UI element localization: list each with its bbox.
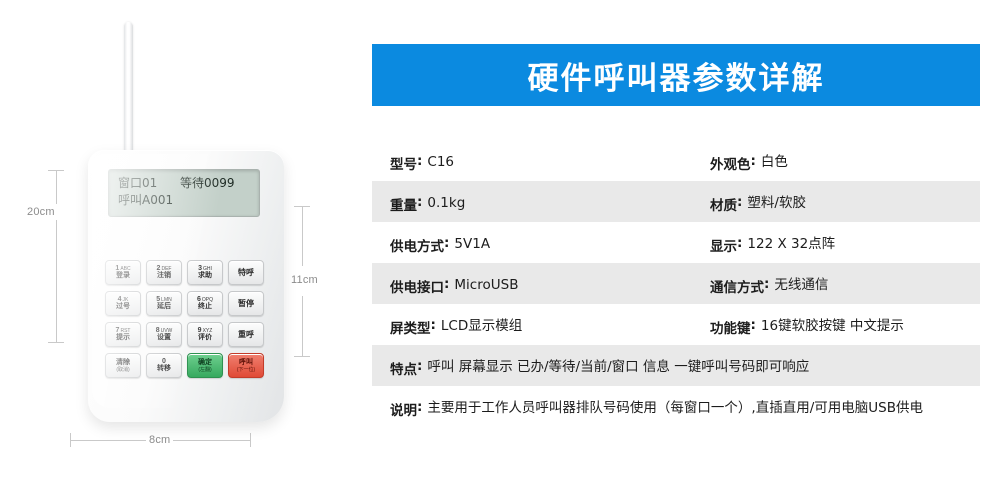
lcd-calling-label: 呼叫A001 bbox=[118, 192, 173, 209]
spec-value: 呼叫 屏幕显示 已办/等待/当前/窗口 信息 一键呼叫号码即可响应 bbox=[427, 345, 809, 377]
height-dimension-label: 20cm bbox=[24, 204, 58, 220]
key-sub-label: (下一位) bbox=[237, 367, 255, 373]
spec-value: 16键软胶按键 中文提示 bbox=[761, 304, 904, 336]
spec-cell: 材质:塑料/软胶 bbox=[710, 181, 962, 222]
width-dimension-tick-left bbox=[70, 433, 71, 447]
spec-key-label: 重量 bbox=[390, 181, 417, 214]
spec-cell: 功能键:16键软胶按键 中文提示 bbox=[710, 304, 962, 345]
height-dimension-line-lower bbox=[56, 222, 57, 342]
spec-value: LCD显示模组 bbox=[441, 304, 522, 336]
key-button[interactable]: 特呼 bbox=[228, 260, 264, 285]
key-main-label: 延后 bbox=[157, 303, 171, 311]
key-button[interactable]: 重呼 bbox=[228, 322, 264, 347]
key-2-button[interactable]: 2DEF注销 bbox=[146, 260, 182, 285]
key-main-label: 转移 bbox=[157, 365, 171, 373]
spec-separator: : bbox=[417, 181, 427, 210]
spec-value: MicroUSB bbox=[454, 263, 518, 295]
spec-key-label: 显示 bbox=[710, 222, 737, 255]
key-sub-label: (取消) bbox=[116, 367, 129, 373]
spec-separator: : bbox=[417, 140, 427, 169]
spec-value: 无线通信 bbox=[774, 263, 828, 295]
spec-key-label: 外观色 bbox=[710, 140, 751, 173]
key-1-button[interactable]: 1ABC登录 bbox=[105, 260, 141, 285]
spec-separator: : bbox=[431, 304, 441, 333]
spec-row: 说明:主要用于工作人员呼叫器排队号码使用（每窗口一个）,直插直用/可用电脑USB… bbox=[372, 386, 980, 444]
key-main-label: 过号 bbox=[116, 303, 130, 311]
key-3-button[interactable]: 3GHI求助 bbox=[187, 260, 223, 285]
depth-dimension-label: 11cm bbox=[288, 272, 321, 288]
spec-key-label: 材质 bbox=[710, 181, 737, 214]
spec-value: 0.1kg bbox=[427, 181, 465, 213]
key-main-label: 确定 bbox=[198, 359, 212, 367]
spec-separator: : bbox=[444, 263, 454, 292]
lcd-waiting-label: 等待0099 bbox=[180, 175, 235, 192]
spec-value: 5V1A bbox=[454, 222, 490, 254]
spec-key-label: 功能键 bbox=[710, 304, 751, 337]
spec-cell: 显示:122 X 32点阵 bbox=[710, 222, 962, 263]
key-main-label: 注销 bbox=[157, 272, 171, 280]
depth-dimension-line-bottom bbox=[302, 296, 303, 356]
key-4-button[interactable]: 4JK过号 bbox=[105, 291, 141, 316]
spec-key-label: 说明 bbox=[390, 386, 417, 419]
key-button[interactable]: 清除(取消) bbox=[105, 353, 141, 378]
key-main-label: 登录 bbox=[116, 272, 130, 280]
spec-row: 特点:呼叫 屏幕显示 已办/等待/当前/窗口 信息 一键呼叫号码即可响应 bbox=[372, 345, 980, 386]
spec-cell: 特点:呼叫 屏幕显示 已办/等待/当前/窗口 信息 一键呼叫号码即可响应 bbox=[390, 345, 962, 386]
spec-value: 主要用于工作人员呼叫器排队号码使用（每窗口一个）,直插直用/可用电脑USB供电 bbox=[427, 386, 923, 418]
page-title: 硬件呼叫器参数详解 bbox=[528, 53, 825, 98]
spec-cell: 重量:0.1kg bbox=[390, 181, 710, 222]
key-main-label: 重呼 bbox=[238, 330, 254, 340]
spec-value: 122 X 32点阵 bbox=[747, 222, 835, 254]
spec-separator: : bbox=[737, 222, 747, 251]
key-8-button[interactable]: 8UVW设置 bbox=[146, 322, 182, 347]
spec-key-label: 供电方式 bbox=[390, 222, 444, 255]
key-main-label: 求助 bbox=[198, 272, 212, 280]
spec-value: 白色 bbox=[761, 140, 788, 172]
spec-row: 屏类型:LCD显示模组功能键:16键软胶按键 中文提示 bbox=[372, 304, 980, 345]
key-main-label: 暂停 bbox=[238, 299, 254, 309]
keypad[interactable]: 1ABC登录2DEF注销3GHI求助特呼4JK过号5LMN延后6OPQ终止暂停7… bbox=[105, 260, 267, 378]
key-main-label: 终止 bbox=[198, 303, 212, 311]
key-button[interactable]: 呼叫(下一位) bbox=[228, 353, 264, 378]
lcd-line-2: 呼叫A001 bbox=[109, 192, 259, 209]
key-9-button[interactable]: 9XYZ评价 bbox=[187, 322, 223, 347]
spec-sheet-panel: 硬件呼叫器参数详解 型号:C16外观色:白色重量:0.1kg材质:塑料/软胶供电… bbox=[360, 0, 1000, 492]
spec-separator: : bbox=[737, 181, 747, 210]
spec-banner: 硬件呼叫器参数详解 bbox=[372, 44, 980, 106]
spec-cell: 说明:主要用于工作人员呼叫器排队号码使用（每窗口一个）,直插直用/可用电脑USB… bbox=[390, 386, 962, 444]
key-main-label: 特呼 bbox=[238, 268, 254, 278]
lcd-screen: 窗口01 等待0099 呼叫A001 bbox=[108, 169, 260, 217]
spec-key-label: 特点 bbox=[390, 345, 417, 378]
key-main-label: 清除 bbox=[116, 359, 130, 367]
spec-separator: : bbox=[751, 140, 761, 169]
spec-cell: 供电方式:5V1A bbox=[390, 222, 710, 263]
width-dimension-label: 8cm bbox=[146, 432, 173, 448]
depth-dimension-line-top bbox=[302, 206, 303, 266]
key-7-button[interactable]: 7RST提示 bbox=[105, 322, 141, 347]
spec-separator: : bbox=[417, 386, 427, 415]
key-main-label: 评价 bbox=[198, 334, 212, 342]
spec-separator: : bbox=[751, 304, 761, 333]
key-sub-label: (左翻) bbox=[198, 367, 211, 373]
spec-value: C16 bbox=[427, 140, 454, 172]
depth-dimension-cap-top bbox=[294, 206, 310, 207]
key-0-button[interactable]: 0转移 bbox=[146, 353, 182, 378]
product-photo-panel: 20cm 11cm 8cm 窗口01 等待0099 呼叫A001 1ABC登录2… bbox=[0, 0, 360, 492]
lcd-window-label: 窗口01 bbox=[118, 175, 180, 192]
spec-key-label: 型号 bbox=[390, 140, 417, 173]
caller-device-body: 窗口01 等待0099 呼叫A001 1ABC登录2DEF注销3GHI求助特呼4… bbox=[88, 150, 284, 422]
key-main-label: 提示 bbox=[116, 334, 130, 342]
key-6-button[interactable]: 6OPQ终止 bbox=[187, 291, 223, 316]
spec-separator: : bbox=[764, 263, 774, 292]
antenna bbox=[124, 22, 133, 162]
spec-cell: 型号:C16 bbox=[390, 140, 710, 181]
spec-table: 型号:C16外观色:白色重量:0.1kg材质:塑料/软胶供电方式:5V1A显示:… bbox=[372, 140, 980, 444]
width-dimension-tick-right bbox=[250, 433, 251, 447]
spec-separator: : bbox=[417, 345, 427, 374]
spec-key-label: 屏类型 bbox=[390, 304, 431, 337]
height-dimension-cap-top bbox=[48, 170, 64, 171]
spec-key-label: 通信方式 bbox=[710, 263, 764, 296]
spec-cell: 外观色:白色 bbox=[710, 140, 962, 181]
key-5-button[interactable]: 5LMN延后 bbox=[146, 291, 182, 316]
spec-separator: : bbox=[444, 222, 454, 251]
spec-cell: 屏类型:LCD显示模组 bbox=[390, 304, 710, 345]
spec-cell: 通信方式:无线通信 bbox=[710, 263, 962, 304]
spec-key-label: 供电接口 bbox=[390, 263, 444, 296]
spec-row: 供电方式:5V1A显示:122 X 32点阵 bbox=[372, 222, 980, 263]
depth-dimension-cap-bottom bbox=[294, 356, 310, 357]
spec-row: 型号:C16外观色:白色 bbox=[372, 140, 980, 181]
spec-row: 供电接口:MicroUSB通信方式:无线通信 bbox=[372, 263, 980, 304]
height-dimension-cap-bottom bbox=[48, 342, 64, 343]
key-main-label: 呼叫 bbox=[239, 359, 253, 367]
spec-value: 塑料/软胶 bbox=[747, 181, 806, 213]
spec-row: 重量:0.1kg材质:塑料/软胶 bbox=[372, 181, 980, 222]
spec-cell: 供电接口:MicroUSB bbox=[390, 263, 710, 304]
lcd-line-1: 窗口01 等待0099 bbox=[109, 175, 259, 192]
key-button[interactable]: 暂停 bbox=[228, 291, 264, 316]
key-main-label: 设置 bbox=[157, 334, 171, 342]
key-button[interactable]: 确定(左翻) bbox=[187, 353, 223, 378]
